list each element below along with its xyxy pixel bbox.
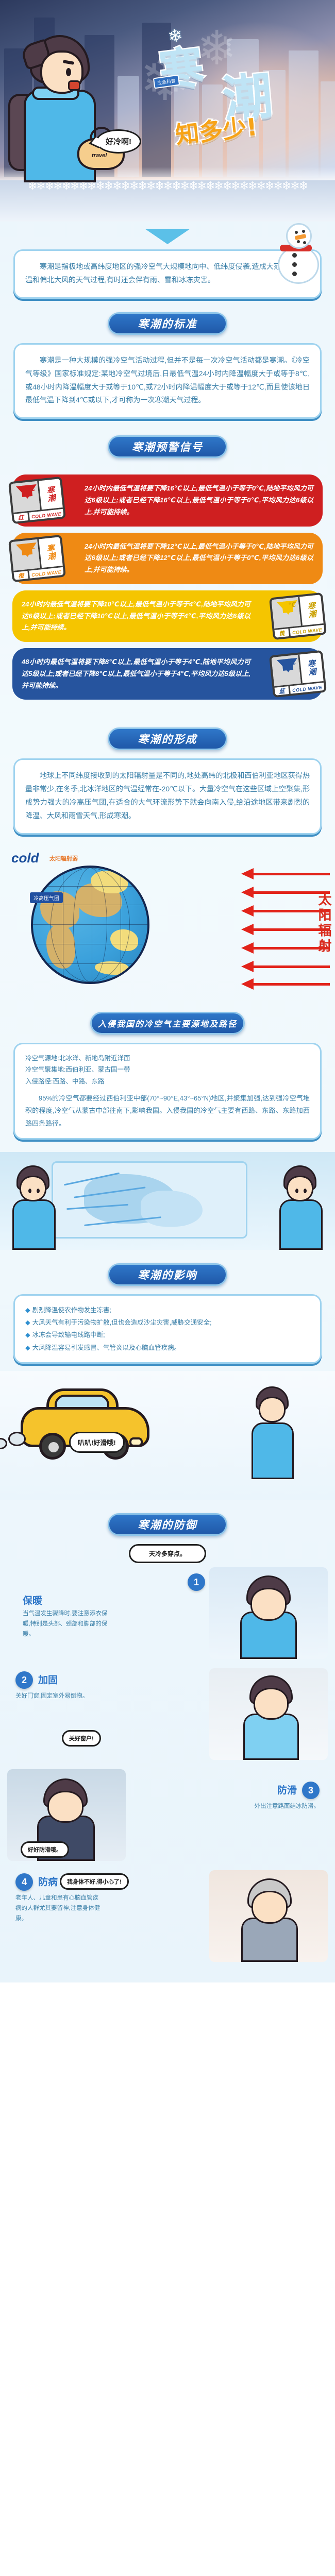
diamond-bullet-icon: ◆ (25, 1319, 30, 1326)
boy-mouth (68, 80, 80, 91)
kid-left-character (3, 1163, 65, 1250)
hero-speech-bubble: 好冷啊! (96, 129, 141, 154)
hero-subtitle: 知多少! (174, 108, 259, 150)
earth-globe-icon (31, 866, 149, 984)
defense-row-2: 2 加固 关好门窗,固定室外易倒物。 关好窗户! (0, 1668, 335, 1765)
sign-en-label: COLD WAVE (290, 625, 325, 638)
path-item: 冷空气源地:北冰洋、新地岛附近洋面 (25, 1053, 310, 1064)
snowman-button (292, 253, 297, 258)
defense-step-text-2: 关好门窗,固定室外易倒物。 (15, 1691, 102, 1701)
globe-diagram: cold 太阳辐射弱 冷高压气团 (0, 843, 335, 1008)
sun-ray (253, 873, 330, 875)
hero-title-group: ❄ 寒 潮 应急科普 知多少! (157, 24, 327, 147)
sign-color-label: 红 (14, 513, 30, 524)
sign-color-label: 蓝 (275, 686, 291, 698)
kid-coat (279, 1199, 323, 1250)
defense-section: 寒潮的防御 天冷多穿点。 1 保暖 当气温发生骤降时,要注意添衣保暖,特别是头部… (0, 1513, 335, 1982)
impact-card: ◆剧烈降温使农作物发生冻害; ◆大风天气有利于污染物扩散,但也会造成沙尘灾害,威… (13, 1294, 322, 1364)
defense-row-3: 3 防滑 外出注意路面结冰防滑。 好好防滑哦。 (0, 1769, 335, 1866)
kid-eye (304, 1189, 307, 1193)
paths-card: 冷空气源地:北冰洋、新地岛附近洋面 冷空气聚集地:西伯利亚、蒙古国一带 入侵路径… (13, 1043, 322, 1140)
sign-en-label: COLD WAVE (290, 683, 325, 696)
warning-card-red: ℃ 寒潮 红 COLD WAVE 24小时内最低气温将要下降16℃以上,最低气温… (12, 474, 323, 526)
travel-bag-label: travel (92, 152, 107, 159)
warning-card-orange: ℃ 寒潮 橙 COLD WAVE 24小时内最低气温将要下降12℃以上,最低气温… (12, 533, 323, 584)
defense-step-title-1: 保暖 (23, 1593, 42, 1607)
impact-item-text: 大风天气有利于污染物扩散,但也会造成沙尘灾害,威胁交通安全; (32, 1319, 212, 1326)
defense-figure-2 (209, 1668, 328, 1760)
kid-eye (37, 1189, 40, 1193)
sign-cn-label: 寒潮 (298, 652, 324, 683)
defense-heading: 寒潮的防御 (108, 1513, 227, 1536)
defense-row-1: 1 保暖 当气温发生骤降时,要注意添衣保暖,特别是头部、颈部和脚部的保暖。 (0, 1567, 335, 1664)
sign-en-label: COLD WAVE (29, 509, 64, 522)
snowman-carrot-nose-icon (294, 234, 306, 240)
person-face (250, 1588, 287, 1621)
cold-wave-sign-orange: ℃ 寒潮 橙 COLD WAVE (8, 535, 66, 582)
defense-step-number-1: 1 (188, 1573, 205, 1591)
sign-unit: ℃ (27, 541, 36, 553)
cold-high-pressure-label: 冷高压气团 (30, 892, 63, 903)
impact-item-text: 冰冻会导致输电线路中断; (32, 1331, 105, 1338)
impact-item: ◆剧烈降温使农作物发生冻害; (25, 1304, 310, 1316)
kid-eye (28, 1189, 31, 1193)
standard-text: 寒潮是一种大规模的强冷空气活动过程,但并不是每一次冷空气活动都是寒潮。《冷空气等… (25, 354, 310, 408)
warning-card-yellow: ℃ 寒潮 黄 COLD WAVE 24小时内最低气温将要下降10℃以上,最低气温… (12, 590, 323, 642)
defense-step-number-3: 3 (302, 1782, 320, 1799)
person-coat (243, 1714, 299, 1760)
impact-item: ◆大风天气有利于污染物扩散,但也会造成沙尘灾害,威胁交通安全; (25, 1316, 310, 1329)
sign-cn-label: 寒潮 (298, 595, 324, 625)
snowman-mouth-dot (303, 241, 306, 244)
warning-text-orange: 24小时内最低气温将要下降12℃以上,最低气温小于等于0℃,陆地平均风力可达6级… (22, 541, 313, 576)
defense-step-title-4: 防病 (38, 1874, 58, 1888)
formation-text: 地球上不同纬度接收到的太阳辐射量是不同的,地处高纬的北极和西伯利亚地区获得热量非… (25, 769, 310, 823)
diamond-bullet-icon: ◆ (25, 1344, 30, 1351)
sign-unit: ℃ (27, 484, 36, 495)
sign-en-label: COLD WAVE (29, 567, 64, 581)
defense-figure-4 (209, 1870, 328, 1962)
boy-coat (24, 90, 96, 182)
sun-ray (253, 983, 330, 986)
map-card (52, 1161, 247, 1239)
impact-item-text: 大风降温容易引发感冒、气管炎以及心脑血管疾病。 (32, 1344, 181, 1351)
defense-top-speech: 天冷多穿点。 (129, 1544, 206, 1563)
paths-note: 95%的冷空气都要经过西伯利亚中部(70°~90°E,43°~65°N)地区,并… (25, 1092, 310, 1129)
defense-caption-3: 好好防滑哦。 (21, 1841, 69, 1858)
defense-figure-1 (209, 1567, 328, 1659)
standard-section: 寒潮的标准 寒潮是一种大规模的强冷空气活动过程,但并不是每一次冷空气活动都是寒潮… (0, 312, 335, 422)
warning-heading: 寒潮预警信号 (108, 435, 227, 458)
car-scene-illustration: 叭叭!好滑哦! (0, 1371, 335, 1500)
sign-color-label: 黄 (275, 629, 291, 640)
person-coat (241, 1918, 298, 1962)
exhaust-puff (0, 1438, 7, 1449)
defense-caption-4: 我身体不好,得小心了! (60, 1873, 129, 1890)
person-face (254, 1688, 289, 1720)
cold-label: cold (11, 850, 39, 866)
title-char-han: 寒 (155, 30, 207, 100)
exhaust-puff (8, 1432, 26, 1446)
kid-right-character (270, 1163, 332, 1250)
defense-step-number-4: 4 (15, 1873, 33, 1891)
warning-card-list: ℃ 寒潮 红 COLD WAVE 24小时内最低气温将要下降16℃以上,最低气温… (0, 466, 335, 711)
standard-card: 寒潮是一种大规模的强冷空气活动过程,但并不是每一次冷空气活动都是寒潮。《冷空气等… (13, 343, 322, 419)
snowman-button (292, 272, 297, 276)
infographic-page: ❄ ❄ ❄ ❄ ❄❄❄❄❄❄❄❄❄❄❄❄❄❄❄❄❄❄❄❄❄❄❄❄❄❄❄❄❄❄❄❄… (0, 0, 335, 1982)
impact-item: ◆大风降温容易引发感冒、气管炎以及心脑血管疾病。 (25, 1342, 310, 1354)
sign-unit: ℃ (288, 599, 297, 611)
snowman-eye (295, 231, 298, 234)
defense-row-4: 4 防病 老年人、儿童和患有心脑血管疾病的人群尤其要留神,注意身体健康。 我身体… (0, 1870, 335, 1967)
impact-heading: 寒潮的影响 (108, 1263, 227, 1286)
walker-face (259, 1397, 286, 1422)
kid-coat (12, 1199, 56, 1250)
snowman-eye (302, 230, 305, 233)
cold-wave-sign-blue: ℃ 寒潮 蓝 COLD WAVE (269, 650, 327, 698)
standard-heading: 寒潮的标准 (108, 312, 227, 335)
formation-card: 地球上不同纬度接收到的太阳辐射量是不同的,地处高纬的北极和西伯利亚地区获得热量非… (13, 758, 322, 835)
boy-eye (66, 68, 71, 76)
warning-card-blue: ℃ 寒潮 蓝 COLD WAVE 48小时内最低气温将要下降8℃以上,最低气温小… (12, 648, 323, 700)
cold-wave-sign-yellow: ℃ 寒潮 黄 COLD WAVE (269, 592, 327, 640)
sign-unit: ℃ (288, 657, 297, 669)
kid-face (287, 1176, 313, 1201)
walking-boy-character (240, 1384, 307, 1482)
defense-step-text-3: 外出注意路面结冰防滑。 (233, 1801, 320, 1811)
paths-section: 入侵我国的冷空气主要源地及路径 冷空气源地:北冰洋、新地岛附近洋面 冷空气聚集地… (0, 1012, 335, 1143)
boy-character: travel (11, 29, 114, 183)
diamond-bullet-icon: ◆ (25, 1331, 30, 1338)
impact-section: 寒潮的影响 ◆剧烈降温使农作物发生冻害; ◆大风天气有利于污染物扩散,但也会造成… (0, 1263, 335, 1367)
impact-item: ◆冰冻会导致输电线路中断; (25, 1329, 310, 1341)
defense-step-text-4: 老年人、儿童和患有心脑血管疾病的人群尤其要留神,注意身体健康。 (15, 1893, 102, 1924)
intro-text: 寒潮是指极地或高纬度地区的强冷空气大规模地向中、低纬度侵袭,造成大范围急剧降温和… (25, 260, 310, 287)
cold-wave-sign-red: ℃ 寒潮 红 COLD WAVE (8, 477, 66, 524)
path-item: 冷空气聚集地:西伯利亚、蒙古国一带 (25, 1064, 310, 1076)
sign-cn-label: 寒潮 (37, 537, 63, 568)
intro-card: 寒潮是指极地或高纬度地区的强冷空气大规模地向中、低纬度侵袭,造成大范围急剧降温和… (13, 249, 322, 299)
sun-radiation-label: 太阳辐射 (317, 892, 331, 954)
sign-cn-label: 寒潮 (37, 479, 63, 510)
defense-step-number-2: 2 (15, 1671, 33, 1689)
walker-coat (252, 1422, 294, 1479)
warning-section: 寒潮预警信号 ℃ 寒潮 红 COLD WAVE (0, 435, 335, 714)
boy-face (40, 50, 83, 94)
path-item: 入侵路径:西路、中路、东路 (25, 1076, 310, 1088)
formation-section: 寒潮的形成 地球上不同纬度接收到的太阳辐射量是不同的,地处高纬的北极和西伯利亚地… (0, 727, 335, 838)
hero-banner: ❄ ❄ ❄ ❄ ❄❄❄❄❄❄❄❄❄❄❄❄❄❄❄❄❄❄❄❄❄❄❄❄❄❄❄❄❄❄❄❄… (0, 0, 335, 222)
defense-step-title-2: 加固 (38, 1672, 58, 1686)
snowman-body (278, 246, 319, 284)
sun-ray (253, 965, 330, 968)
car-wheel (39, 1433, 66, 1460)
defense-caption-2: 关好窗户! (62, 1730, 101, 1747)
snowman-head (286, 223, 312, 249)
kid-eye (295, 1189, 298, 1193)
down-arrow-icon (145, 229, 190, 244)
car-headlight-icon (129, 1437, 143, 1447)
person-face (252, 1891, 288, 1924)
car-horn-speech-bubble: 叭叭!好滑哦! (69, 1432, 125, 1453)
snowman-illustration (274, 223, 323, 284)
formation-heading: 寒潮的形成 (108, 727, 227, 750)
defense-step-title-3: 防滑 (277, 1783, 297, 1797)
kid-face (20, 1176, 46, 1201)
paths-heading: 入侵我国的冷空气主要源地及路径 (90, 1012, 245, 1035)
sun-ray-group (227, 869, 330, 987)
impact-item-text: 剧烈降温使农作物发生冻害; (32, 1307, 111, 1314)
snowman-button (292, 262, 297, 267)
person-face (47, 1791, 83, 1823)
weak-sun-radiation-label: 太阳辐射弱 (49, 854, 78, 862)
china-map-illustration (0, 1152, 335, 1250)
sign-color-label: 橙 (14, 570, 30, 582)
defense-step-text-1: 当气温发生骤降时,要注意添衣保暖,特别是头部、颈部和脚部的保暖。 (23, 1608, 109, 1639)
snowman-mouth-dot (297, 240, 300, 243)
boy-eyebrow (63, 60, 75, 65)
diamond-bullet-icon: ◆ (25, 1307, 30, 1314)
